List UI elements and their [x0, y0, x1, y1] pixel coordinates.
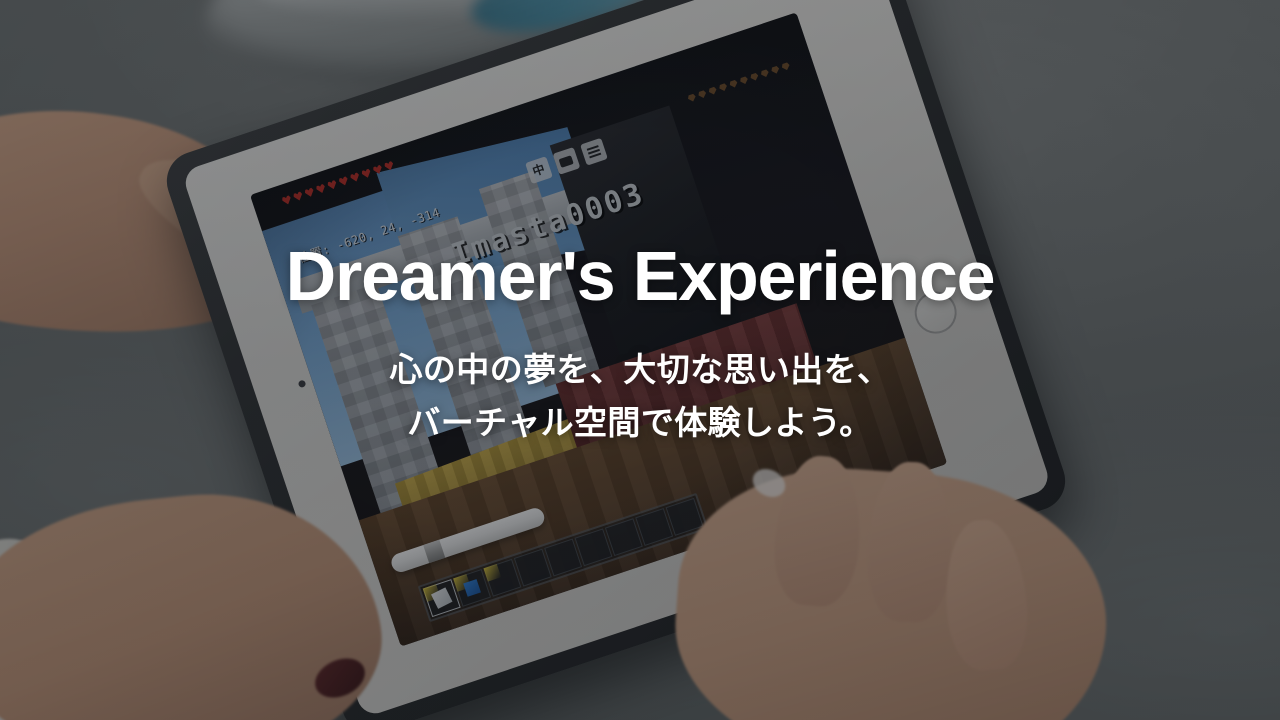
hero-subtitle: 心の中の夢を、大切な思い出を、 バーチャル空間で体験しよう。 — [390, 343, 891, 450]
hero-banner: 位置: -620, 24, -314 Imasta0003 中 — [0, 0, 1280, 720]
subtitle-line-2: バーチャル空間で体験しよう。 — [390, 396, 891, 449]
hero-text-block: Dreamer's Experience 心の中の夢を、大切な思い出を、 バーチ… — [0, 240, 1280, 450]
page-title: Dreamer's Experience — [286, 240, 995, 313]
subtitle-line-1: 心の中の夢を、大切な思い出を、 — [390, 343, 891, 396]
